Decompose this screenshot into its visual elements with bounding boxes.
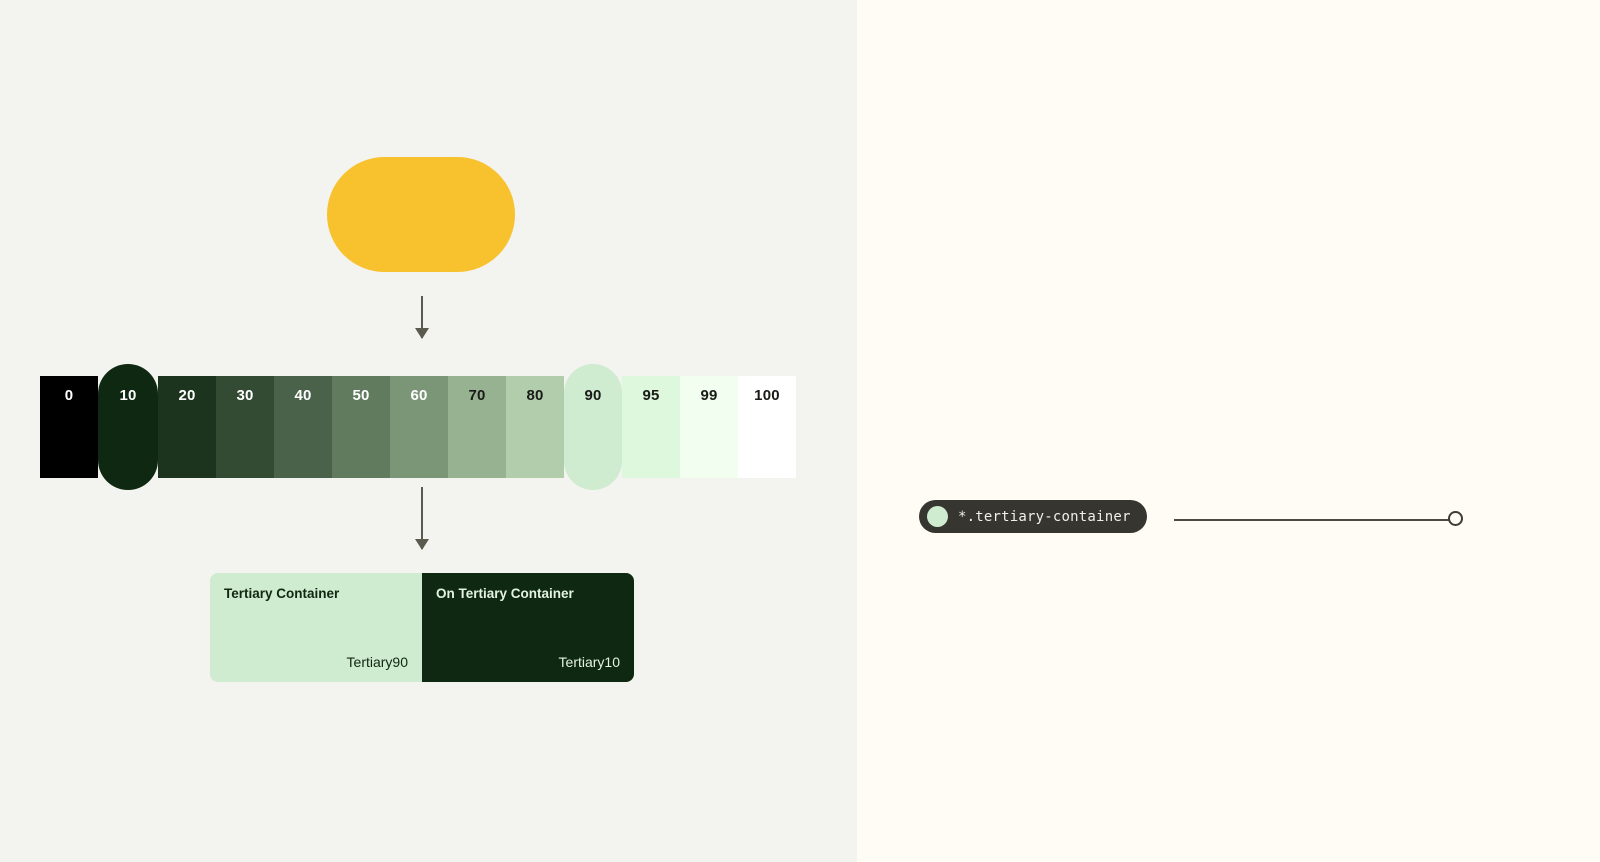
tone-label: 95 bbox=[642, 380, 659, 478]
tone-swatch-40[interactable]: 40 bbox=[274, 376, 332, 478]
role-label: Tertiary Container bbox=[224, 587, 408, 602]
tone-label: 80 bbox=[526, 380, 543, 478]
tone-label: 0 bbox=[65, 380, 74, 478]
tone-label: 90 bbox=[584, 368, 601, 490]
role-token-block: Tertiary Container Tertiary90 On Tertiar… bbox=[210, 573, 634, 682]
preview-panel: 9:30 Plant Care bbox=[857, 0, 1600, 862]
inspector-target-dot bbox=[1448, 511, 1463, 526]
tone-swatch-60[interactable]: 60 bbox=[390, 376, 448, 478]
tone-swatch-100[interactable]: 100 bbox=[738, 376, 796, 478]
tone-swatch-99[interactable]: 99 bbox=[680, 376, 738, 478]
tonal-palette-ramp: 01020304050607080909599100 bbox=[40, 376, 806, 478]
tone-swatch-10[interactable]: 10 bbox=[98, 364, 158, 490]
token-name-label: *.tertiary-container bbox=[958, 509, 1131, 525]
tone-label: 99 bbox=[700, 380, 717, 478]
token-color-swatch-icon bbox=[927, 506, 948, 527]
role-tone-ref: Tertiary90 bbox=[224, 655, 408, 670]
tone-label: 40 bbox=[294, 380, 311, 478]
tone-label: 50 bbox=[352, 380, 369, 478]
source-color-swatch[interactable] bbox=[327, 157, 515, 272]
token-inspector-chip[interactable]: *.tertiary-container bbox=[919, 500, 1147, 533]
tone-label: 20 bbox=[178, 380, 195, 478]
tone-label: 10 bbox=[119, 368, 136, 490]
tone-label: 60 bbox=[410, 380, 427, 478]
tone-label: 30 bbox=[236, 380, 253, 478]
tone-label: 100 bbox=[754, 380, 780, 478]
tone-swatch-0[interactable]: 0 bbox=[40, 376, 98, 478]
tone-swatch-50[interactable]: 50 bbox=[332, 376, 390, 478]
tone-swatch-70[interactable]: 70 bbox=[448, 376, 506, 478]
tone-swatch-30[interactable]: 30 bbox=[216, 376, 274, 478]
tone-swatch-80[interactable]: 80 bbox=[506, 376, 564, 478]
tone-swatch-90[interactable]: 90 bbox=[564, 364, 622, 490]
inspector-leader-line bbox=[1174, 519, 1454, 521]
role-label: On Tertiary Container bbox=[436, 587, 620, 602]
tone-label: 70 bbox=[468, 380, 485, 478]
arrow-down-icon bbox=[421, 487, 423, 549]
tone-swatch-20[interactable]: 20 bbox=[158, 376, 216, 478]
tone-swatch-95[interactable]: 95 bbox=[622, 376, 680, 478]
palette-panel: 01020304050607080909599100 Tertiary Cont… bbox=[0, 0, 857, 862]
screenshot-root: 01020304050607080909599100 Tertiary Cont… bbox=[0, 0, 1600, 862]
tertiary-container-swatch[interactable]: Tertiary Container Tertiary90 bbox=[210, 573, 422, 682]
on-tertiary-container-swatch[interactable]: On Tertiary Container Tertiary10 bbox=[422, 573, 634, 682]
arrow-down-icon bbox=[421, 296, 423, 338]
role-tone-ref: Tertiary10 bbox=[436, 655, 620, 670]
